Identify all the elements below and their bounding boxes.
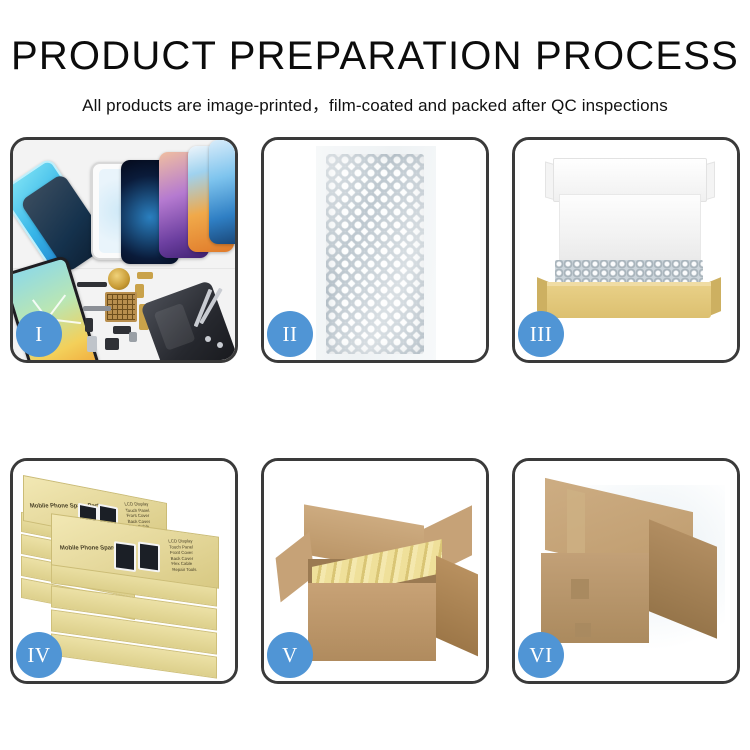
part-buzzer (105, 338, 119, 350)
box-front-panel (547, 286, 711, 318)
part-speaker-bar (77, 282, 107, 287)
process-step-panel-5: V (261, 458, 489, 684)
part-screw-b (217, 342, 223, 348)
carton-front-panel (308, 583, 436, 661)
part-vibration-motor (108, 268, 130, 290)
checklist-item: Back Cover (127, 519, 150, 524)
checklist-item: LCD Display (124, 502, 149, 507)
carton-tab-upper (571, 579, 589, 599)
step-badge-5: V (267, 632, 313, 678)
process-step-panel-1: I (10, 137, 238, 363)
step-badge-4: IV (16, 632, 62, 678)
part-metal-bracket (83, 306, 111, 311)
checklist-item: Repair Tools (172, 567, 197, 572)
part-battery-sliver (87, 336, 97, 352)
part-camera-module (85, 318, 93, 332)
part-gold-connector (137, 272, 153, 279)
checklist-item: Touch Panel (169, 544, 194, 549)
part-screw-a (205, 336, 211, 342)
process-step-grid: I II III (10, 137, 740, 684)
checklist-item: Flex Cable (171, 561, 192, 566)
foam-insert (559, 194, 701, 264)
checklist-item: Back Cover (170, 556, 193, 561)
checklist-item: LCD Display (168, 539, 193, 544)
process-step-panel-3: III (512, 137, 740, 363)
step-badge-3: III (518, 311, 564, 357)
carton-side-panel (436, 556, 478, 657)
sealed-carton-front (541, 553, 649, 643)
step-badge-2: II (267, 311, 313, 357)
checklist-item: Front Cover (170, 550, 194, 555)
step-badge-6: VI (518, 632, 564, 678)
process-step-panel-4: Mobile Phone Spare Parts LCD Display Tou… (10, 458, 238, 684)
page-title: PRODUCT PREPARATION PROCESS (0, 0, 750, 76)
carton-tab-lower (575, 623, 591, 637)
part-sim-tray (129, 332, 137, 342)
process-step-panel-2: II (261, 137, 489, 363)
phone-blue-gradient (209, 140, 235, 244)
checklist-item: Front Cover (126, 513, 150, 518)
page-subtitle: All products are image-printed，film-coat… (0, 76, 750, 116)
bubble-wrap-sheen (326, 154, 424, 354)
page-header: PRODUCT PREPARATION PROCESS All products… (0, 0, 750, 116)
step-badge-1: I (16, 311, 62, 357)
process-step-panel-6: VI (512, 458, 740, 684)
checklist-item: Touch Panel (125, 507, 150, 512)
